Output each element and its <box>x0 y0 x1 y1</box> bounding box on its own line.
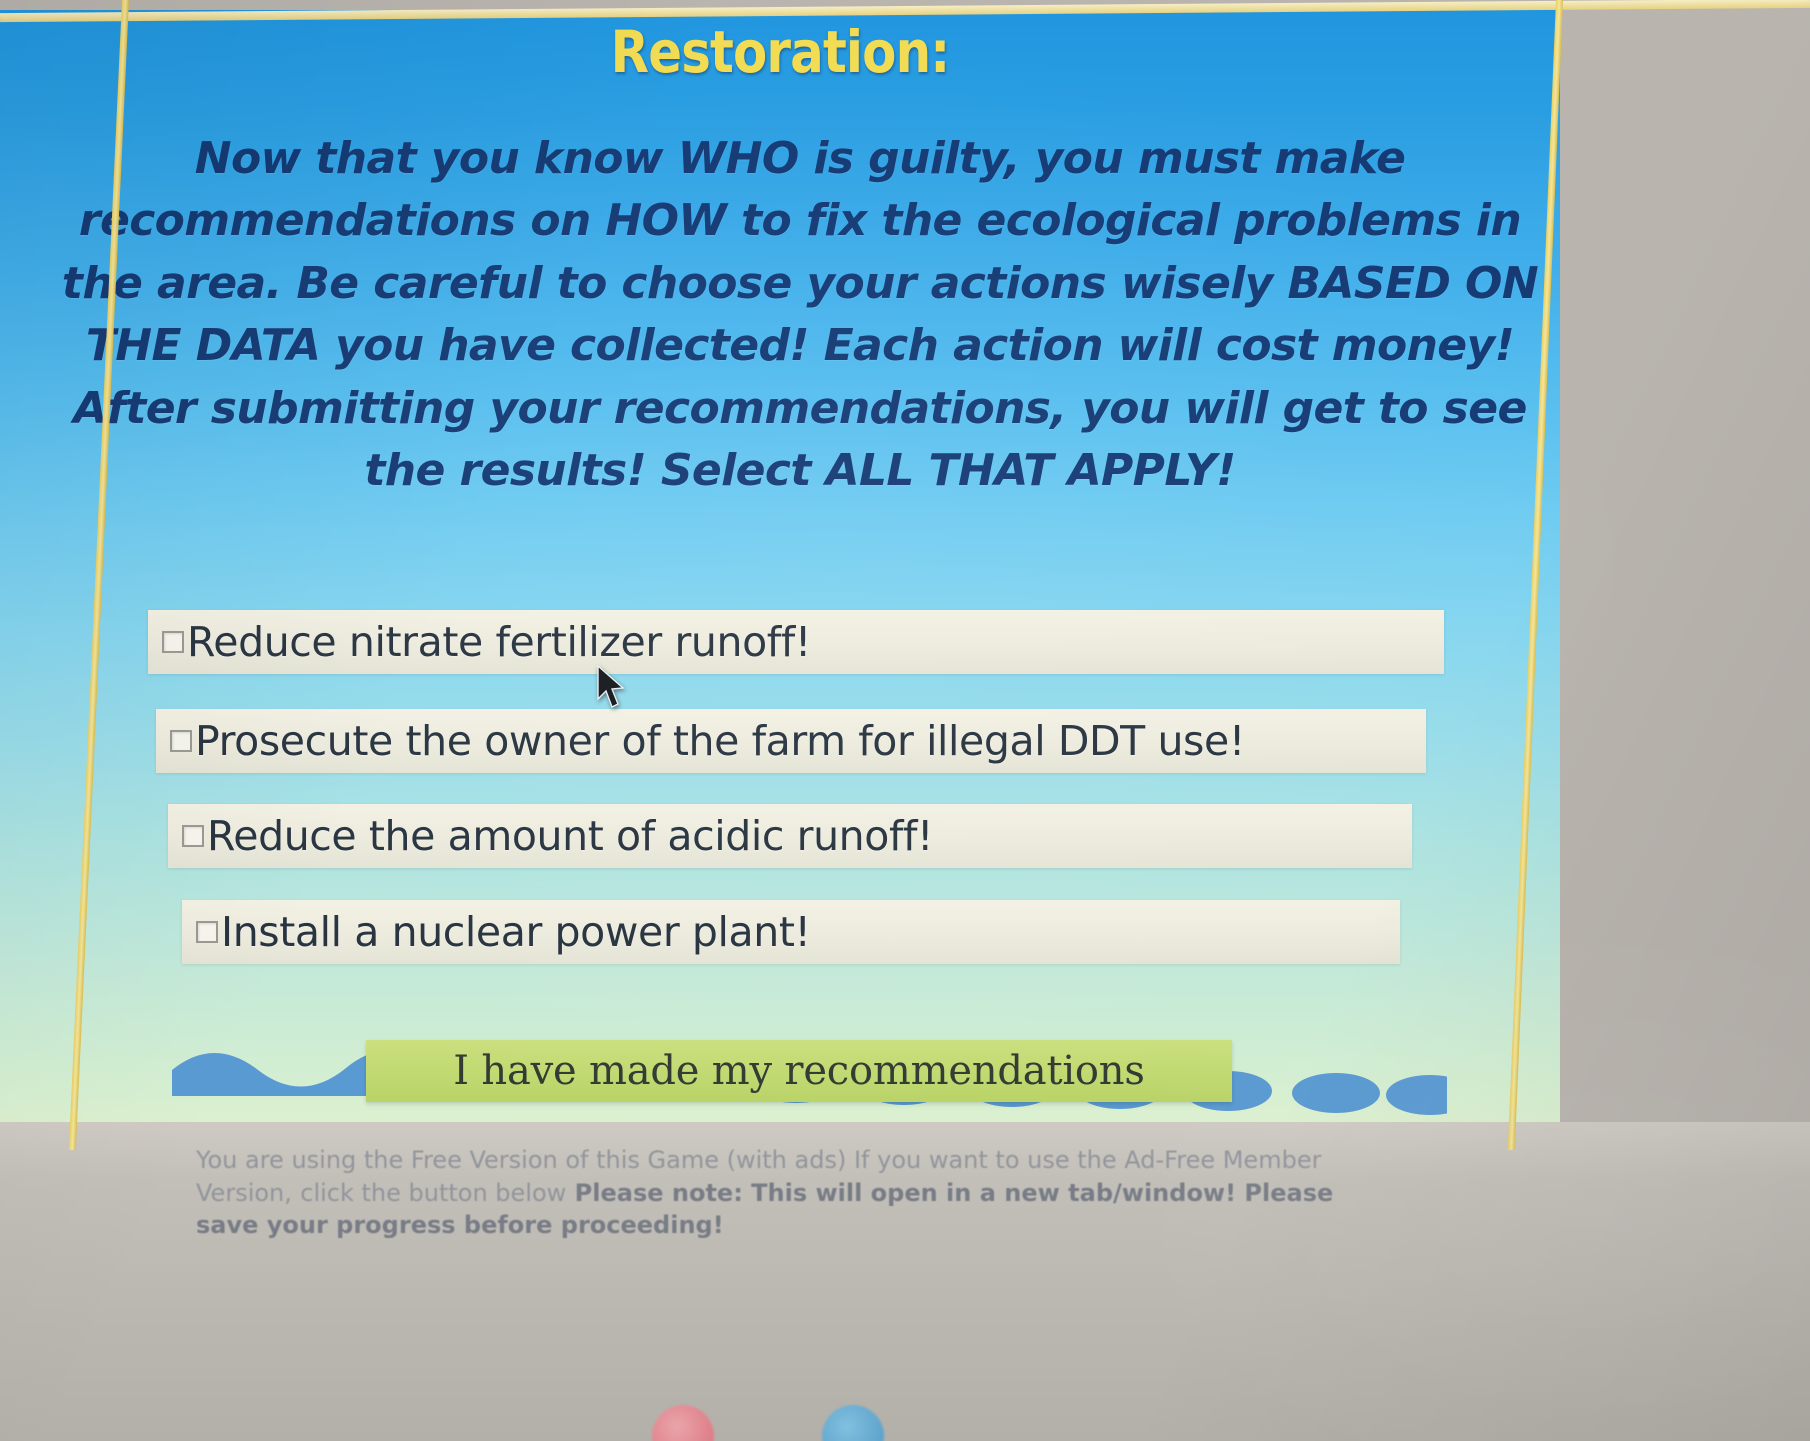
option-row-install-nuclear-power-plant[interactable]: Install a nuclear power plant! <box>182 900 1400 964</box>
option-row-prosecute-farm-owner-ddt[interactable]: Prosecute the owner of the farm for ille… <box>156 709 1426 773</box>
option-label: Reduce the amount of acidic runoff! <box>207 812 933 860</box>
option-label: Reduce nitrate fertilizer runoff! <box>187 618 811 666</box>
checkbox-unchecked-icon[interactable] <box>182 825 204 847</box>
screen-photograph: is , etc.) & esis ethods Restoration: No… <box>0 0 1810 1441</box>
submit-recommendations-button[interactable]: I have made my recommendations <box>366 1040 1232 1102</box>
option-row-reduce-acidic-runoff[interactable]: Reduce the amount of acidic runoff! <box>168 804 1412 868</box>
recommendation-options-list: Reduce nitrate fertilizer runoff! Prosec… <box>148 610 1458 964</box>
checkbox-unchecked-icon[interactable] <box>162 631 184 653</box>
free-version-notice: You are using the Free Version of this G… <box>196 1144 1376 1242</box>
footer-line-2-prefix: click the button below <box>300 1179 566 1207</box>
option-row-reduce-nitrate-fertilizer-runoff[interactable]: Reduce nitrate fertilizer runoff! <box>148 610 1444 674</box>
checkbox-unchecked-icon[interactable] <box>170 730 192 752</box>
activity-panel: Restoration: Now that you know WHO is gu… <box>0 10 1560 1125</box>
mouse-pointer-icon <box>596 665 626 711</box>
instructions-paragraph: Now that you know WHO is guilty, you mus… <box>60 128 1540 503</box>
option-label: Install a nuclear power plant! <box>221 908 811 956</box>
page-title: Restoration: <box>109 18 1451 86</box>
checkbox-unchecked-icon[interactable] <box>196 921 218 943</box>
free-version-footer: You are using the Free Version of this G… <box>0 1122 1810 1441</box>
social-circle-blue-icon[interactable] <box>822 1405 884 1441</box>
footer-line-3-bold: before proceeding! <box>464 1211 724 1239</box>
social-circle-pink-icon[interactable] <box>652 1405 714 1441</box>
option-label: Prosecute the owner of the farm for ille… <box>195 717 1245 765</box>
